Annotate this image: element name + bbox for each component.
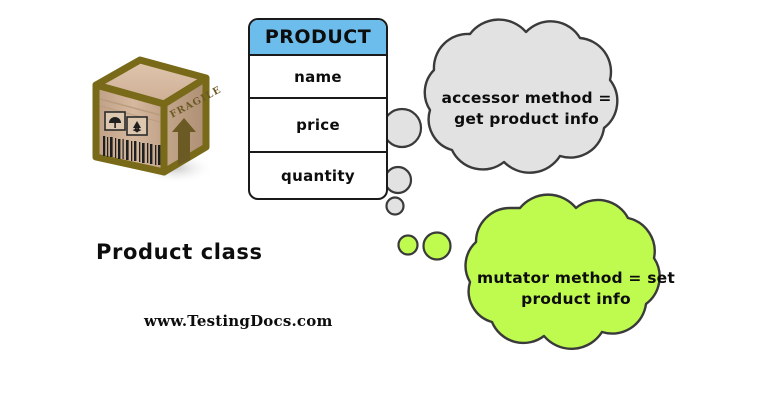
class-attribute-label-name: name bbox=[294, 68, 342, 86]
class-attribute-row-quantity: quantity bbox=[250, 153, 386, 199]
class-attribute-label-price: price bbox=[296, 116, 340, 134]
site-watermark: www.TestingDocs.com bbox=[144, 312, 333, 330]
class-attribute-row-name: name bbox=[250, 56, 386, 99]
mutator-cloud-body bbox=[466, 195, 660, 349]
class-table-header-label: PRODUCT bbox=[265, 26, 371, 48]
accessor-cloud-body bbox=[425, 20, 618, 173]
accessor-tail-circle-medium bbox=[385, 167, 411, 193]
product-class-table: PRODUCT name price quantity bbox=[248, 18, 388, 200]
class-attribute-label-quantity: quantity bbox=[281, 167, 355, 185]
diagram-canvas: FRAGILE accessor method = get product in bbox=[0, 0, 768, 400]
accessor-tail-circle-small bbox=[387, 198, 404, 215]
mutator-thought-bubble bbox=[399, 195, 660, 349]
mutator-tail-circle-small bbox=[399, 236, 418, 255]
accessor-tail-circle-large bbox=[383, 109, 421, 147]
product-class-caption: Product class bbox=[96, 240, 263, 264]
mutator-tail-circle-large bbox=[424, 233, 451, 260]
class-table-header: PRODUCT bbox=[250, 20, 386, 56]
accessor-thought-bubble bbox=[383, 20, 617, 215]
class-attribute-row-price: price bbox=[250, 99, 386, 153]
